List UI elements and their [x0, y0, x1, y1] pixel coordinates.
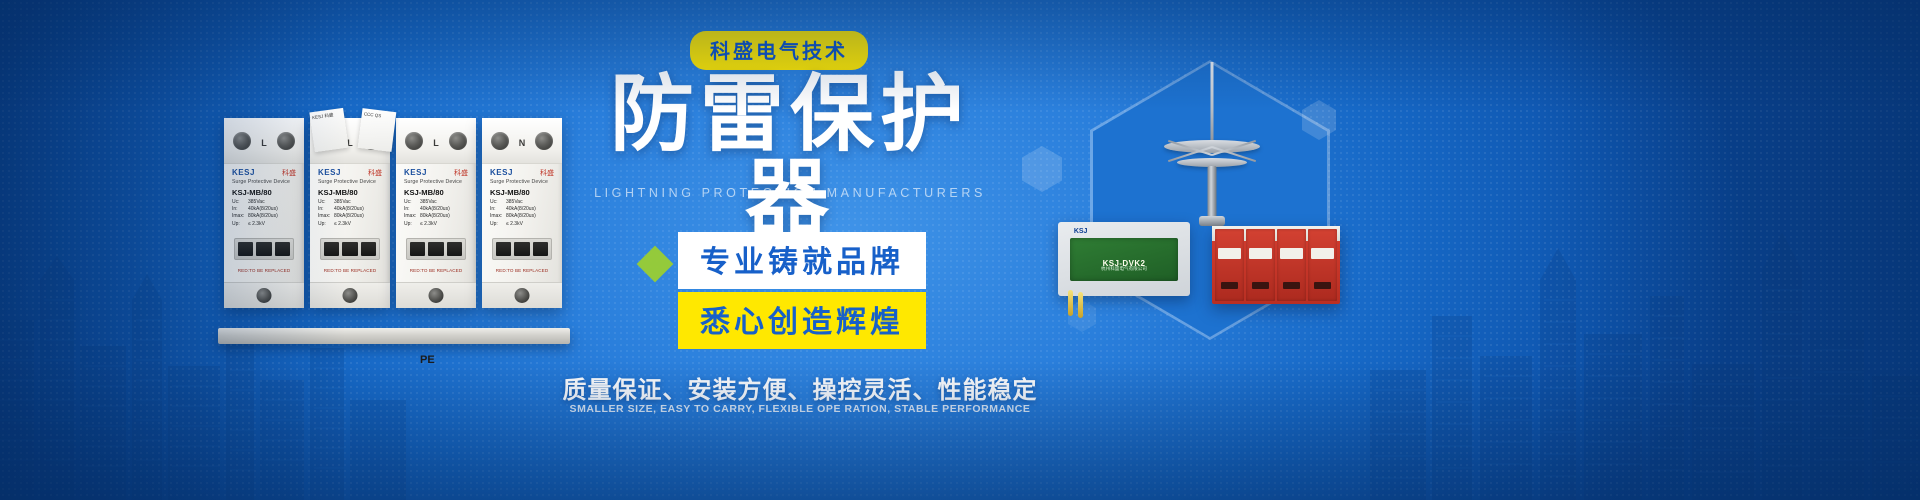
- spd-model: KSJ-MB/80: [404, 188, 444, 197]
- slogan-secondary: 悉心创造辉煌: [678, 292, 926, 349]
- hex-decoration-small-left: [1022, 146, 1062, 192]
- spd-product-photo: L KESJ 科盛 Surge Protective Device KSJ-MB…: [224, 118, 564, 332]
- spd-replace-note: RED:TO BE REPLACED: [488, 268, 556, 273]
- terminal-screw-icon: [491, 132, 509, 150]
- spd-subtitle: Surge Protective Device: [232, 179, 290, 185]
- promo-banner: L KESJ 科盛 Surge Protective Device KSJ-MB…: [0, 0, 1920, 500]
- signal-spd-device-photo: KSJ-DVK2 杭州科盛电气有限公司 KSJ: [1058, 222, 1190, 296]
- spd-model: KSJ-MB/80: [232, 188, 272, 197]
- slogan-group: 专业铸就品牌 悉心创造辉煌: [678, 232, 926, 349]
- hang-tag-1: KESJ 科盛: [309, 108, 348, 152]
- rod-spike: [1211, 62, 1214, 146]
- terminal-screw-icon: [257, 288, 272, 303]
- spd-status-window: [492, 238, 552, 260]
- spd-brand-cn: 科盛: [368, 168, 382, 178]
- red-spd-module: [1215, 229, 1244, 301]
- hang-tag-2: CCC QS: [358, 108, 397, 152]
- spd-module-1: L KESJ 科盛 Surge Protective Device KSJ-MB…: [224, 118, 304, 308]
- pe-terminal-label: PE: [420, 354, 435, 366]
- spd-foot: [482, 282, 562, 308]
- spd-model: KSJ-MB/80: [318, 188, 358, 197]
- spd-specs: Uc:385Vac In:40kA(8/20us) Imax:80kA(8/20…: [232, 199, 298, 228]
- spd-brand-cn: 科盛: [454, 168, 468, 178]
- terminal-screw-icon: [535, 132, 553, 150]
- spd-specs: Uc:385Vac In:40kA(8/20us) Imax:80kA(8/20…: [318, 199, 384, 228]
- feature-line-cn: 质量保证、安装方便、操控灵活、性能稳定: [520, 370, 1080, 405]
- terminal-screw-icon: [277, 132, 295, 150]
- spd-module-3: L KESJ 科盛 Surge Protective Device KSJ-MB…: [396, 118, 476, 308]
- spd-cap: L: [396, 118, 476, 164]
- city-skyline-right: [1370, 120, 1920, 500]
- spd-terminal-label: N: [519, 138, 526, 148]
- spd-replace-note: RED:TO BE REPLACED: [230, 268, 298, 273]
- red-spd-module: [1277, 229, 1306, 301]
- device-lead-wire: [1068, 290, 1073, 316]
- rod-base: [1199, 216, 1225, 226]
- spd-subtitle: Surge Protective Device: [318, 179, 376, 185]
- banner-title: 防雷保护器: [580, 72, 1000, 240]
- spd-cap: N: [482, 118, 562, 164]
- spd-replace-note: RED:TO BE REPLACED: [402, 268, 470, 273]
- red-spd-module: [1308, 229, 1337, 301]
- spd-model: KSJ-MB/80: [490, 188, 530, 197]
- device-company-cn: 杭州科盛电气有限公司: [1070, 266, 1178, 272]
- spd-foot: [396, 282, 476, 308]
- spd-status-window: [406, 238, 466, 260]
- spd-status-window: [234, 238, 294, 260]
- spd-specs: Uc:385Vac In:40kA(8/20us) Imax:80kA(8/20…: [404, 199, 470, 228]
- spd-specs: Uc:385Vac In:40kA(8/20us) Imax:80kA(8/20…: [490, 199, 556, 228]
- device-brand: KSJ: [1074, 228, 1088, 235]
- spd-foot: [310, 282, 390, 308]
- spd-brand-cn: 科盛: [540, 168, 554, 178]
- terminal-screw-icon: [429, 288, 444, 303]
- din-rail: [218, 328, 570, 344]
- device-lead-wire: [1078, 292, 1083, 318]
- spd-foot: [224, 282, 304, 308]
- red-spd-bank-photo: [1212, 226, 1340, 304]
- spd-module-4: N KESJ 科盛 Surge Protective Device KSJ-MB…: [482, 118, 562, 308]
- spd-terminal-label: L: [261, 138, 267, 148]
- spd-replace-note: RED:TO BE REPLACED: [316, 268, 384, 273]
- spd-subtitle: Surge Protective Device: [490, 179, 548, 185]
- spd-subtitle: Surge Protective Device: [404, 179, 462, 185]
- terminal-screw-icon: [515, 288, 530, 303]
- banner-title-english: LIGHTNING PROTECTION MANUFACTURERS: [580, 186, 1000, 200]
- diamond-decoration: [637, 246, 674, 283]
- terminal-screw-icon: [343, 288, 358, 303]
- spd-cap: L: [224, 118, 304, 164]
- spd-status-window: [320, 238, 380, 260]
- spd-terminal-label: L: [433, 138, 439, 148]
- terminal-screw-icon: [405, 132, 423, 150]
- feature-line-en: SMALLER SIZE, EASY TO CARRY, FLEXIBLE OP…: [520, 403, 1080, 415]
- red-spd-module: [1246, 229, 1275, 301]
- terminal-screw-icon: [233, 132, 251, 150]
- rod-shaft: [1208, 166, 1217, 218]
- terminal-screw-icon: [449, 132, 467, 150]
- slogan-primary: 专业铸就品牌: [678, 232, 926, 289]
- device-body: KSJ-DVK2 杭州科盛电气有限公司: [1070, 238, 1178, 281]
- spd-brand-cn: 科盛: [282, 168, 296, 178]
